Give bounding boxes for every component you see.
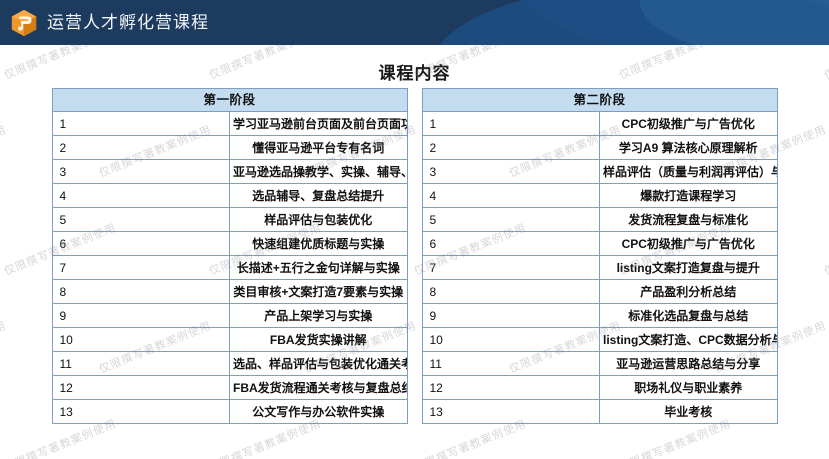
row-number: 8 (52, 280, 230, 304)
table-row: 13毕业考核 (422, 400, 777, 424)
phase-two-header: 第二阶段 (422, 89, 777, 112)
row-text: 快速组建优质标题与实操 (230, 232, 408, 256)
row-text: 懂得亚马逊平台专有名词 (230, 136, 408, 160)
row-text: 毕业考核 (600, 400, 778, 424)
table-row: 12职场礼仪与职业素养 (422, 376, 777, 400)
table-row: 1CPC初级推广与广告优化 (422, 112, 777, 136)
table-row: 5发货流程复盘与标准化 (422, 208, 777, 232)
phase-two-body: 1CPC初级推广与广告优化 2学习A9 算法核心原理解析 3样品评估（质量与利润… (422, 112, 777, 424)
row-text: listing文案打造复盘与提升 (600, 256, 778, 280)
table-row: 6CPC初级推广与广告优化 (422, 232, 777, 256)
row-number: 9 (422, 304, 600, 328)
row-text: 亚马逊运营思路总结与分享 (600, 352, 778, 376)
table-header-row: 第一阶段 (52, 89, 407, 112)
row-text: 亚马逊选品操教学、实操、辅导、复盘 (230, 160, 408, 184)
table-row: 10listing文案打造、CPC数据分析与优化通关考核与总结 (422, 328, 777, 352)
row-text: FBA发货实操讲解 (230, 328, 408, 352)
phase-tables-container: 第一阶段 1学习亚马逊前台页面及前台页面功能术语 2懂得亚马逊平台专有名词 3亚… (0, 88, 829, 424)
phase-one-body: 1学习亚马逊前台页面及前台页面功能术语 2懂得亚马逊平台专有名词 3亚马逊选品操… (52, 112, 407, 424)
row-number: 10 (52, 328, 230, 352)
row-number: 5 (422, 208, 600, 232)
row-number: 11 (52, 352, 230, 376)
row-number: 7 (52, 256, 230, 280)
table-row: 9标准化选品复盘与总结 (422, 304, 777, 328)
row-text: FBA发货流程通关考核与复盘总结 (230, 376, 408, 400)
table-row: 3亚马逊选品操教学、实操、辅导、复盘 (52, 160, 407, 184)
table-header-row: 第二阶段 (422, 89, 777, 112)
cube-logo-icon (9, 8, 39, 38)
row-text: listing文案打造、CPC数据分析与优化通关考核与总结 (600, 328, 778, 352)
row-text: 类目审核+文案打造7要素与实操 (230, 280, 408, 304)
row-text: 选品、样品评估与包装优化通关考核与复盘总结 (230, 352, 408, 376)
phase-one-table: 第一阶段 1学习亚马逊前台页面及前台页面功能术语 2懂得亚马逊平台专有名词 3亚… (52, 88, 408, 424)
row-number: 13 (422, 400, 600, 424)
table-row: 11选品、样品评估与包装优化通关考核与复盘总结 (52, 352, 407, 376)
table-row: 1学习亚马逊前台页面及前台页面功能术语 (52, 112, 407, 136)
row-text: 标准化选品复盘与总结 (600, 304, 778, 328)
row-text: 样品评估（质量与利润再评估）与包装优化复盘与总结 (600, 160, 778, 184)
row-number: 9 (52, 304, 230, 328)
row-text: 产品上架学习与实操 (230, 304, 408, 328)
phase-two-table: 第二阶段 1CPC初级推广与广告优化 2学习A9 算法核心原理解析 3样品评估（… (422, 88, 778, 424)
table-row: 7长描述+五行之金句详解与实操 (52, 256, 407, 280)
table-row: 4选品辅导、复盘总结提升 (52, 184, 407, 208)
table-row: 8类目审核+文案打造7要素与实操 (52, 280, 407, 304)
table-row: 8产品盈利分析总结 (422, 280, 777, 304)
page-title: 课程内容 (0, 59, 829, 84)
table-row: 4爆款打造课程学习 (422, 184, 777, 208)
banner-content: 运营人才孵化营课程 (0, 0, 829, 45)
row-number: 2 (422, 136, 600, 160)
table-row: 12FBA发货流程通关考核与复盘总结 (52, 376, 407, 400)
table-row: 9产品上架学习与实操 (52, 304, 407, 328)
row-number: 12 (422, 376, 600, 400)
row-number: 6 (52, 232, 230, 256)
row-number: 4 (52, 184, 230, 208)
banner-title: 运营人才孵化营课程 (47, 14, 209, 31)
row-text: 选品辅导、复盘总结提升 (230, 184, 408, 208)
row-number: 8 (422, 280, 600, 304)
row-text: 发货流程复盘与标准化 (600, 208, 778, 232)
row-number: 13 (52, 400, 230, 424)
row-number: 7 (422, 256, 600, 280)
row-text: 学习A9 算法核心原理解析 (600, 136, 778, 160)
table-row: 5样品评估与包装优化 (52, 208, 407, 232)
row-text: 长描述+五行之金句详解与实操 (230, 256, 408, 280)
row-text: 公文写作与办公软件实操 (230, 400, 408, 424)
table-row: 11亚马逊运营思路总结与分享 (422, 352, 777, 376)
table-row: 6快速组建优质标题与实操 (52, 232, 407, 256)
table-row: 7listing文案打造复盘与提升 (422, 256, 777, 280)
row-number: 1 (422, 112, 600, 136)
table-row: 2学习A9 算法核心原理解析 (422, 136, 777, 160)
row-number: 3 (422, 160, 600, 184)
row-number: 1 (52, 112, 230, 136)
table-row: 13公文写作与办公软件实操 (52, 400, 407, 424)
row-number: 3 (52, 160, 230, 184)
header-banner: 运营人才孵化营课程 (0, 0, 829, 45)
row-number: 5 (52, 208, 230, 232)
row-text: 爆款打造课程学习 (600, 184, 778, 208)
row-number: 10 (422, 328, 600, 352)
row-number: 12 (52, 376, 230, 400)
table-row: 3样品评估（质量与利润再评估）与包装优化复盘与总结 (422, 160, 777, 184)
row-text: CPC初级推广与广告优化 (600, 232, 778, 256)
row-text: 职场礼仪与职业素养 (600, 376, 778, 400)
row-text: 产品盈利分析总结 (600, 280, 778, 304)
table-row: 2懂得亚马逊平台专有名词 (52, 136, 407, 160)
row-text: 样品评估与包装优化 (230, 208, 408, 232)
row-number: 6 (422, 232, 600, 256)
phase-one-header: 第一阶段 (52, 89, 407, 112)
row-number: 2 (52, 136, 230, 160)
table-row: 10FBA发货实操讲解 (52, 328, 407, 352)
row-text: 学习亚马逊前台页面及前台页面功能术语 (230, 112, 408, 136)
row-number: 4 (422, 184, 600, 208)
row-number: 11 (422, 352, 600, 376)
row-text: CPC初级推广与广告优化 (600, 112, 778, 136)
